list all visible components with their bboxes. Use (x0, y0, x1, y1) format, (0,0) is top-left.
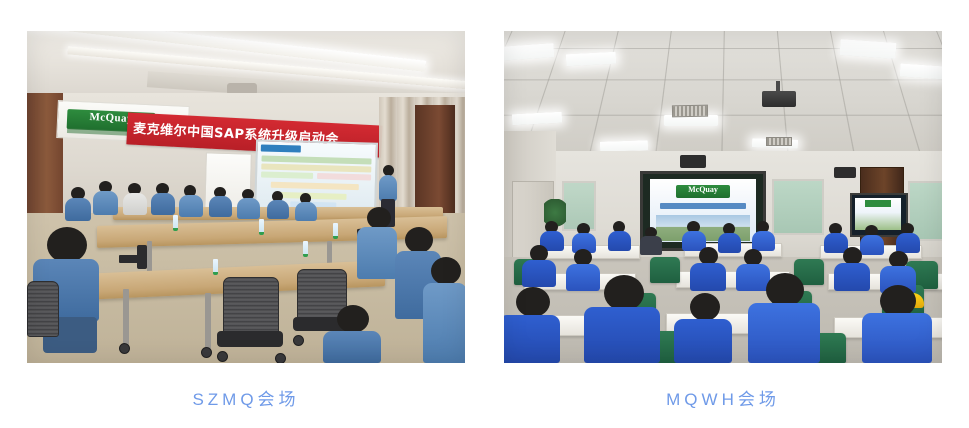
slide-header (261, 144, 301, 152)
szmq-conference-room-photo: McQuay 麦克维尔中国SAP系统升级启动会 (27, 31, 465, 363)
attendee (752, 221, 775, 251)
attendee (237, 189, 260, 219)
green-whiteboard (772, 179, 824, 235)
table-leg (205, 293, 211, 349)
figure-szmq: McQuay 麦克维尔中国SAP系统升级启动会 (27, 31, 465, 410)
attendee-foreground (862, 285, 932, 363)
chair-caster (293, 335, 304, 346)
mcquay-logo: McQuay (676, 185, 730, 198)
attendee (640, 227, 662, 255)
figure-caption-mqwh: MQWH会场 (666, 385, 780, 410)
slide-row (271, 182, 359, 190)
mqwh-classroom-photo: McQuay (504, 31, 942, 363)
table-leg (123, 289, 129, 345)
slide-row (261, 171, 313, 178)
attendee (896, 223, 920, 253)
attendee (209, 187, 232, 217)
attendee (267, 191, 289, 219)
attendee (690, 247, 726, 291)
attendee-foreground (748, 273, 820, 363)
projector-icon (762, 91, 796, 107)
attendee-foreground (423, 257, 465, 363)
attendee (151, 183, 175, 215)
attendee (179, 185, 203, 217)
attendee (65, 187, 91, 221)
chair-caster (201, 347, 212, 358)
water-bottle (303, 241, 308, 257)
office-chair (27, 281, 59, 337)
attendee (357, 207, 397, 279)
microphone (137, 245, 147, 269)
water-bottle (333, 223, 338, 239)
water-bottle (173, 215, 178, 231)
chair-caster (275, 353, 286, 363)
attendee (123, 183, 147, 215)
attendee (93, 181, 118, 215)
mcquay-logo-text: McQuay (676, 185, 730, 194)
wall-speaker (680, 155, 706, 168)
attendee (522, 245, 556, 287)
water-bottle (259, 219, 264, 235)
office-chair-seat (217, 331, 283, 347)
figure-mqwh: McQuay (504, 31, 942, 410)
wall-speaker (834, 167, 856, 178)
attendee (295, 193, 317, 221)
image-gallery: McQuay 麦克维尔中国SAP系统升级启动会 (0, 0, 969, 428)
ceiling-vent (672, 105, 708, 118)
attendee-foreground (674, 293, 732, 363)
ceiling-vent (766, 137, 792, 146)
chair-caster (119, 343, 130, 354)
chair-caster (217, 351, 228, 362)
figure-caption-szmq: SZMQ会场 (192, 385, 299, 410)
attendee-foreground (323, 305, 381, 363)
slide-title-bar (660, 203, 746, 209)
slide-row (317, 173, 371, 181)
attendee-foreground (584, 275, 660, 363)
attendee (608, 221, 631, 251)
mcquay-logo (865, 200, 891, 207)
water-bottle (213, 259, 218, 275)
attendee-foreground (504, 287, 560, 363)
